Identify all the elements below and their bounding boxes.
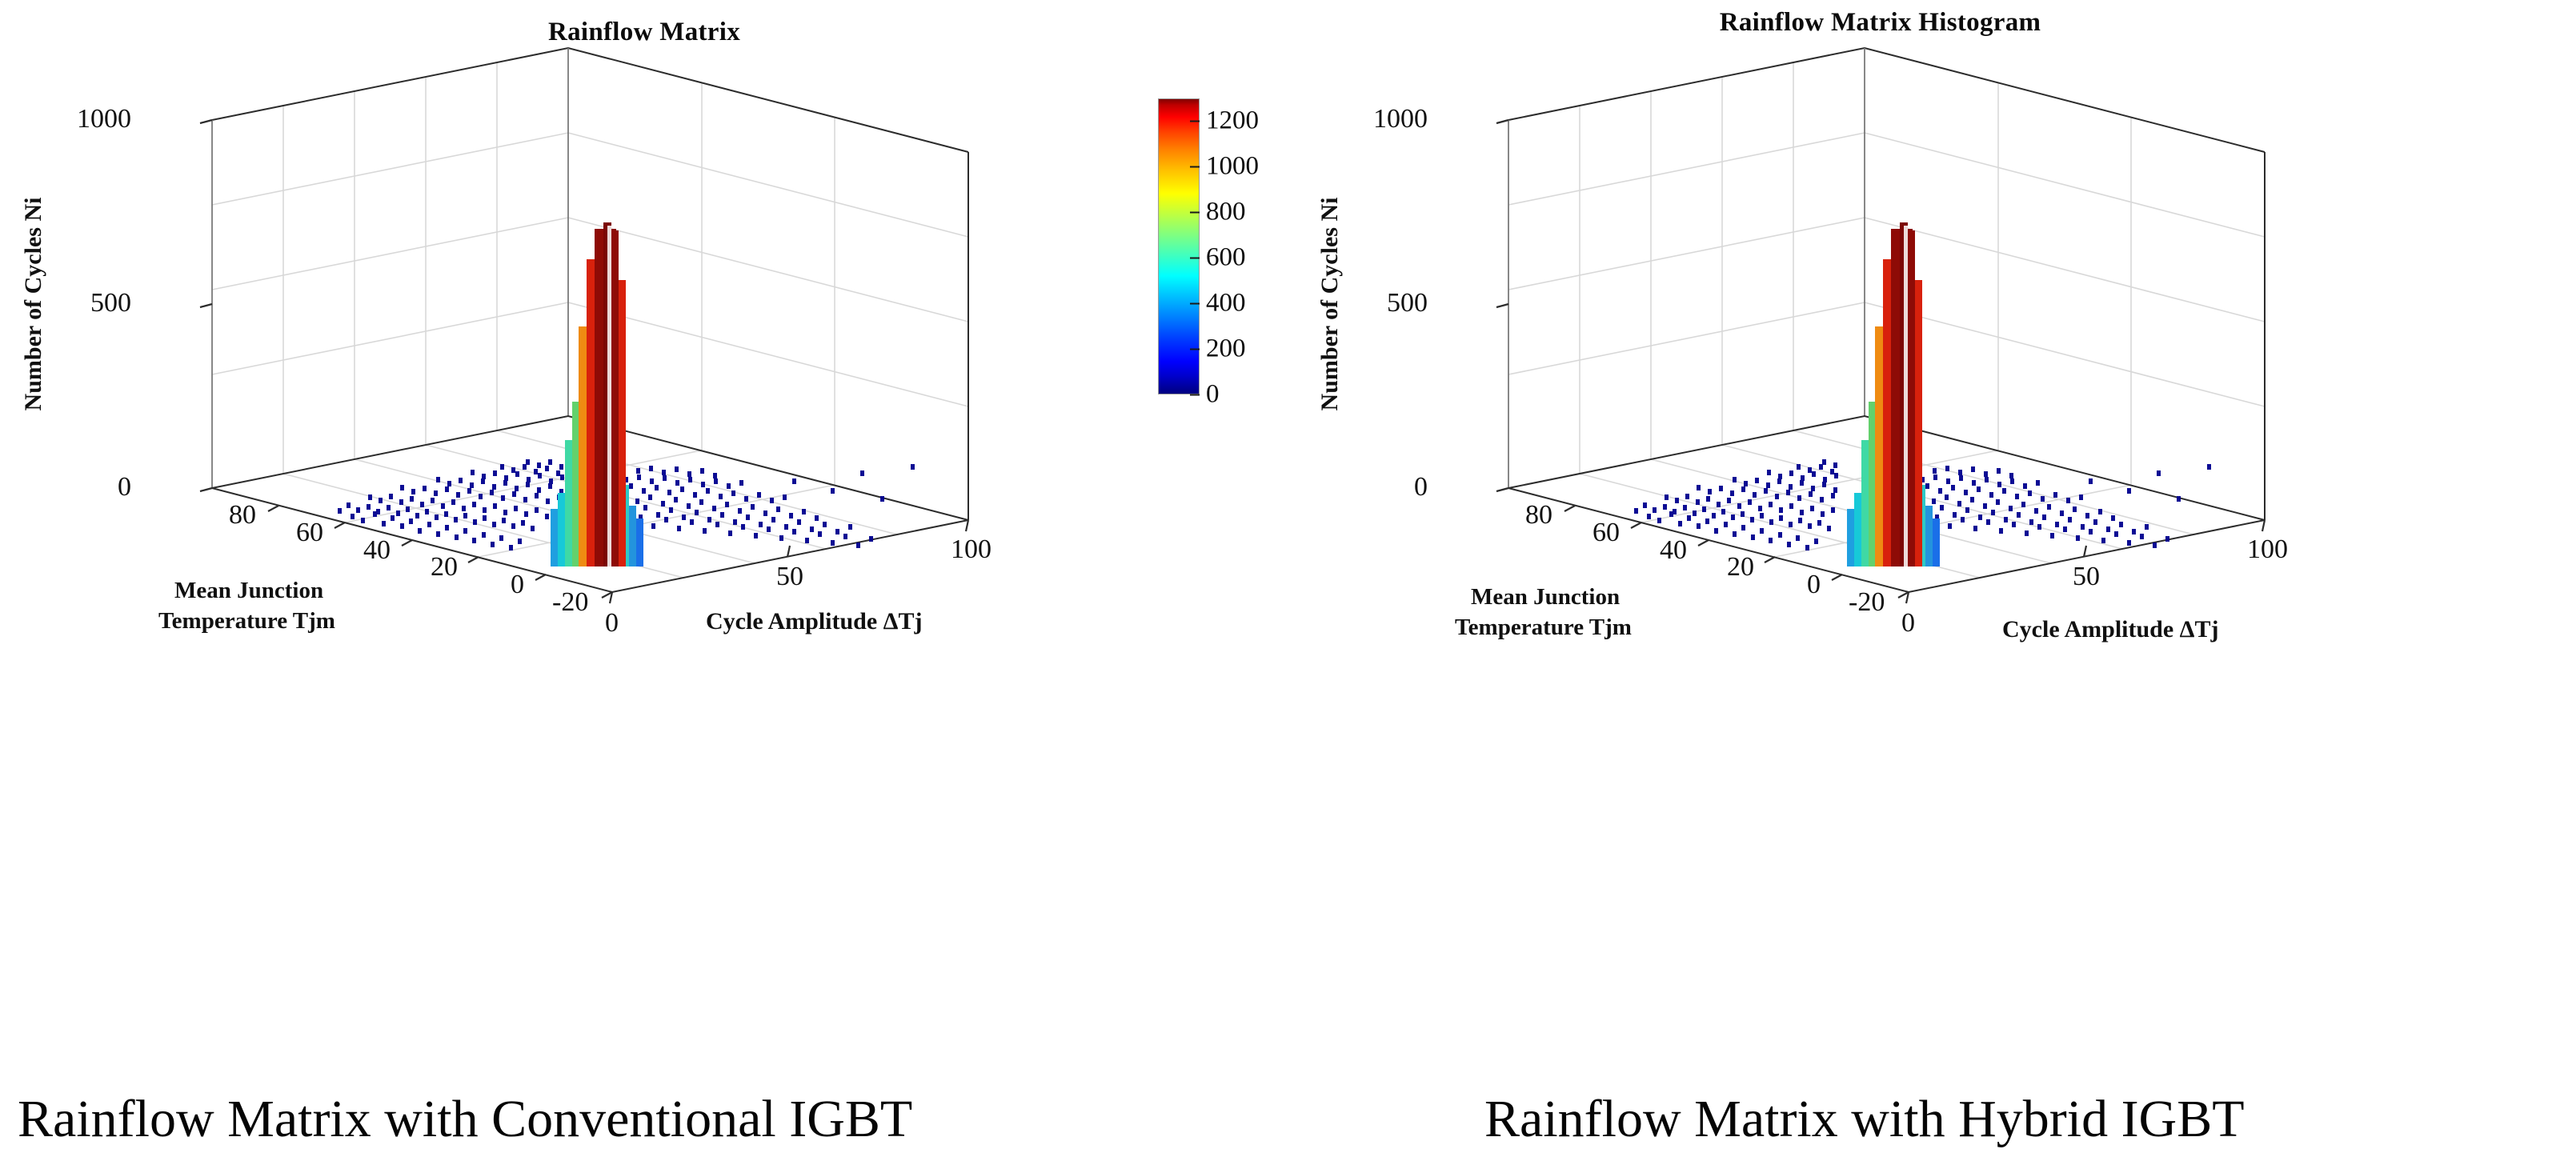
colorbar-tick-1200: 1200 xyxy=(1206,106,1259,136)
plot-panel-right: Rainflow Matrix Histogram xyxy=(1288,0,2576,960)
peak-bars-left xyxy=(579,222,626,566)
axes-3d-left: 1000 500 0 Number of Cycles Ni 80 60 40 … xyxy=(136,40,1144,904)
colorbar-gradient-left xyxy=(1158,98,1200,394)
x-axis-label-line1-left: Mean Junction xyxy=(174,578,323,604)
caption-right: Rainflow Matrix with Hybrid IGBT xyxy=(1484,1089,2245,1150)
x-tick-label-80: 80 xyxy=(229,500,256,530)
axes-3d-right: 1000 500 0 Number of Cycles Ni 80 60 40 … xyxy=(1408,32,2417,920)
colorbar-tick-800: 800 xyxy=(1206,198,1246,227)
x-tick-label-neg20: -20 xyxy=(1849,587,1885,618)
x-axis-label-line1-right: Mean Junction xyxy=(1471,584,1620,611)
x-tick-label-40: 40 xyxy=(1660,535,1687,566)
y-tick-label-0: 0 xyxy=(605,608,619,639)
colorbar-tickmark xyxy=(1190,166,1200,167)
z-tick-label-0: 0 xyxy=(1414,472,1428,502)
y-tick-label-100: 100 xyxy=(2247,534,2288,565)
x-tick-label-20: 20 xyxy=(431,552,458,583)
colorbar-tickmark xyxy=(1190,120,1200,122)
x-tick-label-0: 0 xyxy=(511,570,524,600)
y-axis-label-right: Cycle Amplitude ΔTj xyxy=(2002,616,2218,643)
y-tick-label-0: 0 xyxy=(1901,608,1915,639)
colorbar-tick-600: 600 xyxy=(1206,243,1246,273)
y-tick-label-100: 100 xyxy=(951,534,992,565)
colorbar-tick-1000: 1000 xyxy=(1206,152,1259,182)
x-tick-label-40: 40 xyxy=(363,535,391,566)
colorbar-tickmark xyxy=(1190,348,1200,350)
z-axis-label-left: Number of Cycles Ni xyxy=(20,198,47,411)
x-tick-label-60: 60 xyxy=(296,518,323,548)
z-tick-label-500: 500 xyxy=(1387,288,1428,318)
x-axis-label-line2-right: Temperature Tjm xyxy=(1455,615,1632,641)
z-tick-label-500: 500 xyxy=(90,288,131,318)
x-tick-label-20: 20 xyxy=(1727,552,1754,583)
caption-left: Rainflow Matrix with Conventional IGBT xyxy=(18,1089,912,1150)
colorbar-tick-0: 0 xyxy=(1206,380,1220,410)
axes-right-svg xyxy=(1408,32,2417,920)
y-axis-label-left: Cycle Amplitude ΔTj xyxy=(706,608,922,635)
y-tick-label-50: 50 xyxy=(776,562,803,592)
z-tick-label-1000: 1000 xyxy=(1373,104,1428,134)
x-axis-label-line2-left: Temperature Tjm xyxy=(158,608,335,635)
colorbar-left[interactable]: 0 200 400 600 800 1000 1200 xyxy=(1158,98,1200,394)
colorbar-tickmark xyxy=(1190,211,1200,213)
x-tick-label-60: 60 xyxy=(1592,518,1620,548)
figure-root: Rainflow Matrix xyxy=(0,0,2576,1161)
colorbar-tickmark xyxy=(1190,257,1200,258)
axes-left-svg xyxy=(136,40,1144,904)
z-axis-label-right: Number of Cycles Ni xyxy=(1316,198,1344,411)
z-tick-label-0: 0 xyxy=(118,472,131,502)
plot-panel-left: Rainflow Matrix xyxy=(0,0,1288,960)
x-tick-label-0: 0 xyxy=(1807,570,1821,600)
colorbar-tick-200: 200 xyxy=(1206,334,1246,364)
z-tick-label-1000: 1000 xyxy=(77,104,131,134)
x-tick-label-neg20: -20 xyxy=(552,587,588,618)
y-tick-label-50: 50 xyxy=(2073,562,2100,592)
colorbar-tick-400: 400 xyxy=(1206,289,1246,318)
peak-bars-right xyxy=(1875,222,1922,566)
x-tick-label-80: 80 xyxy=(1525,500,1552,530)
colorbar-tickmark xyxy=(1190,394,1200,395)
colorbar-tickmark xyxy=(1190,302,1200,304)
